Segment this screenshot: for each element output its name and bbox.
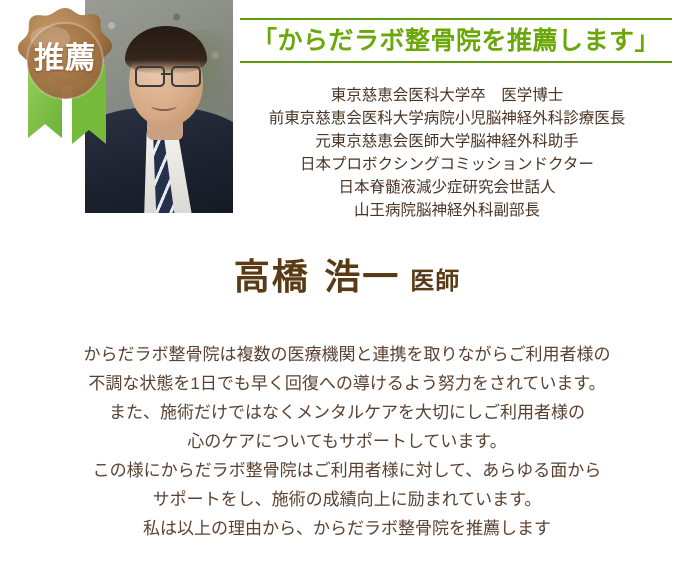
message-line: 私は以上の理由から、からだラボ整骨院を推薦します [0,514,694,543]
wax-seal-icon [10,6,120,116]
credential-line: 前東京慈恵会医科大学病院小児脳神経外科診療医長 [200,107,694,130]
testimonial-message: からだラボ整骨院は複数の医療機関と連携を取りながらご利用者様の 不調な状態を1日… [0,340,694,543]
credential-line: 日本脊髄液減少症研究会世話人 [200,176,694,199]
doctor-title: 医師 [410,266,460,295]
credential-line: 日本プロボクシングコミッションドクター [200,153,694,176]
credentials-list: 東京慈恵会医科大学卒 医学博士 前東京慈恵会医科大学病院小児脳神経外科診療医長 … [200,84,694,222]
credential-line: 東京慈恵会医科大学卒 医学博士 [200,84,694,107]
credential-line: 山王病院脳神経外科副部長 [200,199,694,222]
message-line: からだラボ整骨院は複数の医療機関と連携を取りながらご利用者様の [0,340,694,369]
message-line: また、施術だけではなくメンタルケアを大切にしご利用者様の [0,398,694,427]
doctor-name: 高橋 浩一 [234,256,401,298]
headline-title: 「からだラボ整骨院を推薦します」 [240,20,672,61]
headline-rule-bottom [240,61,672,63]
doctor-name-block: 高橋 浩一医師 [0,248,694,300]
message-line: サポートをし、施術の成績向上に励まれています。 [0,485,694,514]
recommendation-seal: 推薦 [4,2,134,152]
testimonial-card: 推薦 「からだラボ整骨院を推薦します」 東京慈恵会医科大学卒 医学博士 前東京慈… [0,0,694,562]
message-line: 不調な状態を1日でも早く回復への導けるよう努力をされています。 [0,369,694,398]
credential-line: 元東京慈恵会医師大学脳神経外科助手 [200,130,694,153]
glasses-icon [131,66,203,84]
message-line: 心のケアについてもサポートしています。 [0,427,694,456]
message-line: この様にからだラボ整骨院はご利用者様に対して、あらゆる面から [0,456,694,485]
photo-mouth [151,100,177,111]
headline-block: 「からだラボ整骨院を推薦します」 [240,18,672,63]
